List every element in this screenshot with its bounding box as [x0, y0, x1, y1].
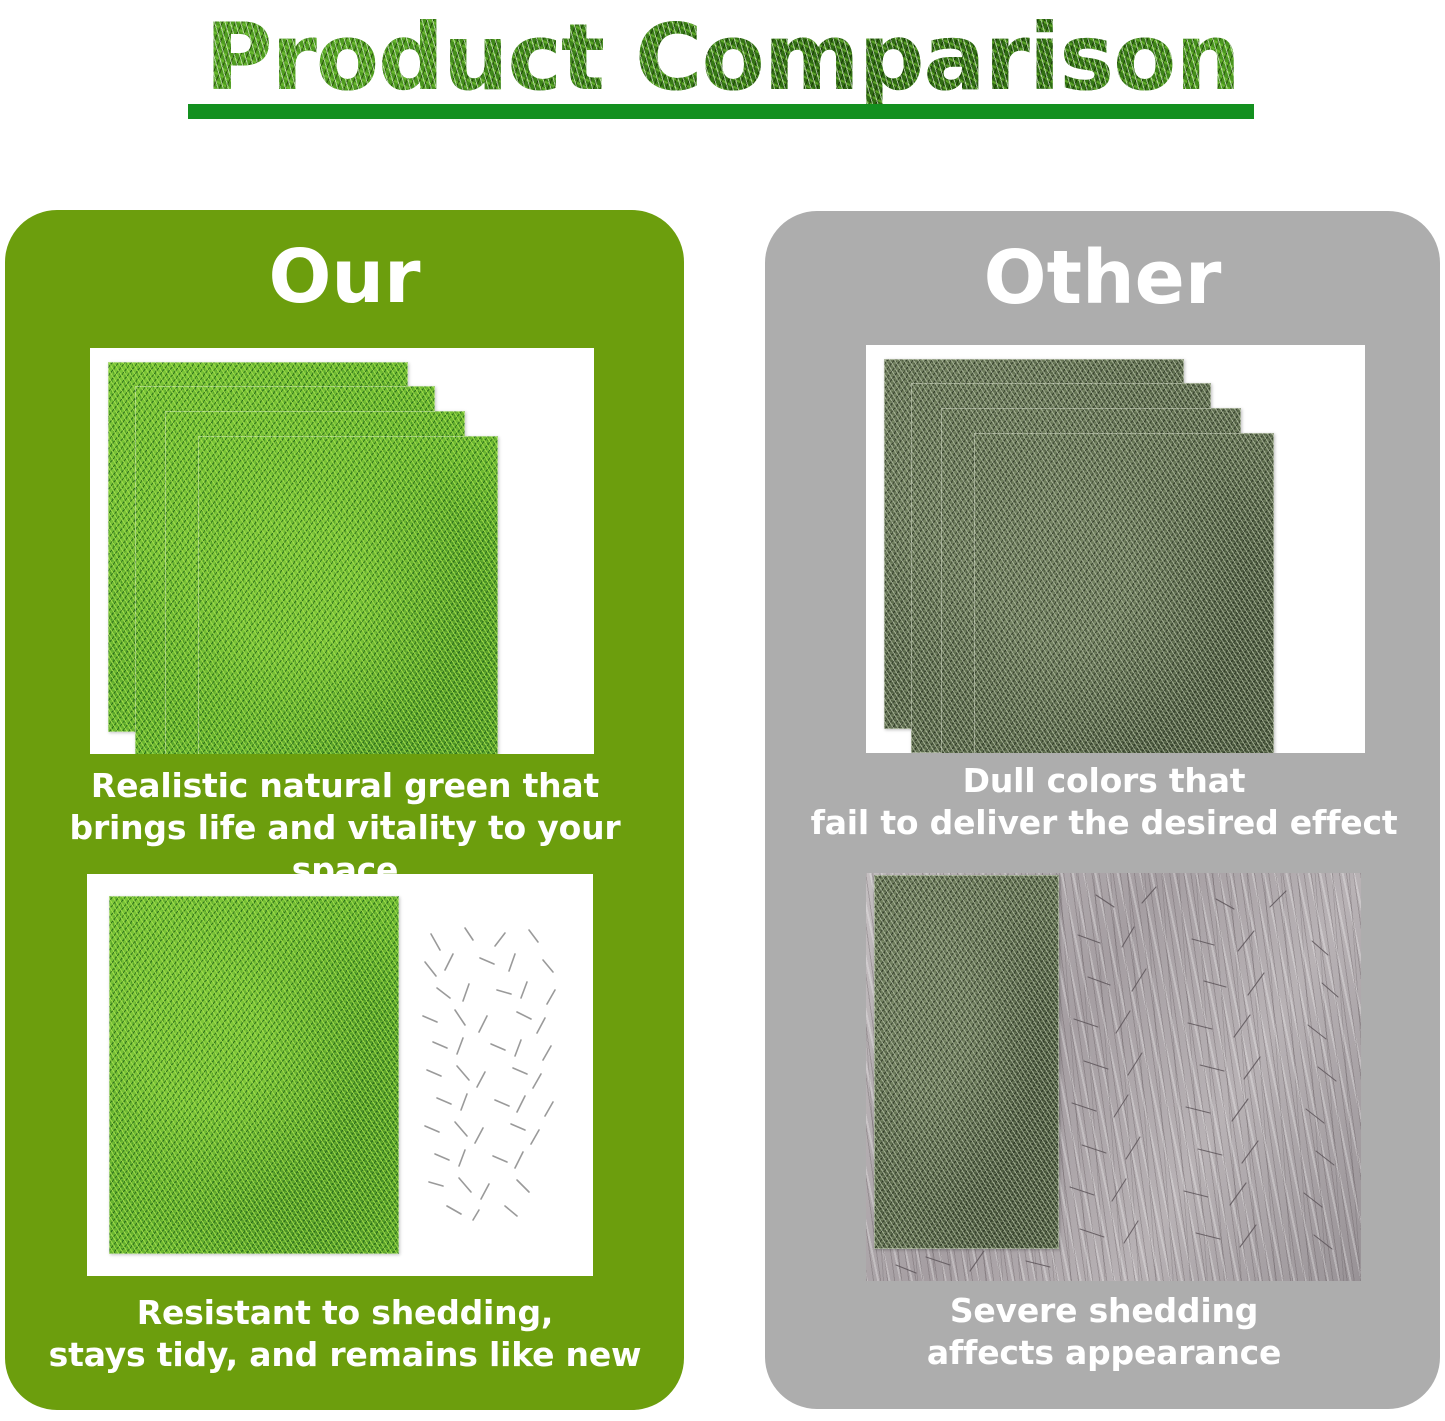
photo-frame-other-shedding	[866, 873, 1361, 1281]
caption-our-top: Realistic natural green that brings life…	[20, 765, 670, 891]
grass-mat-dull-4	[974, 433, 1274, 753]
title-block: Product Comparison	[0, 0, 1445, 150]
caption-line: Resistant to shedding,	[20, 1292, 670, 1334]
caption-line: fail to deliver the desired effect	[780, 802, 1428, 844]
photo-frame-our-grass-stack	[90, 348, 594, 754]
title-underline-bar	[188, 104, 1254, 119]
panel-our-heading: Our	[5, 234, 684, 320]
grass-mat-bright-4	[198, 436, 498, 754]
product-comparison-infographic: Product Comparison Our Realistic natural…	[0, 0, 1445, 1421]
photo-frame-other-grass-stack	[866, 345, 1365, 753]
caption-line: stays tidy, and remains like new	[20, 1334, 670, 1376]
caption-line: Severe shedding	[780, 1290, 1428, 1332]
caption-our-bottom: Resistant to shedding, stays tidy, and r…	[20, 1292, 670, 1376]
caption-line: Dull colors that	[780, 760, 1428, 802]
shed-fibers-on-floor-icon	[866, 873, 1361, 1281]
shed-fiber-strands-icon	[417, 924, 567, 1224]
caption-line: affects appearance	[780, 1332, 1428, 1374]
caption-line: Realistic natural green that	[20, 765, 670, 807]
panel-other-heading: Other	[765, 235, 1440, 321]
caption-other-bottom: Severe shedding affects appearance	[780, 1290, 1428, 1374]
grass-mat-bright-single	[109, 896, 399, 1254]
caption-other-top: Dull colors that fail to deliver the des…	[780, 760, 1428, 844]
page-title: Product Comparison	[0, 6, 1445, 110]
photo-frame-our-no-shedding	[87, 874, 593, 1276]
